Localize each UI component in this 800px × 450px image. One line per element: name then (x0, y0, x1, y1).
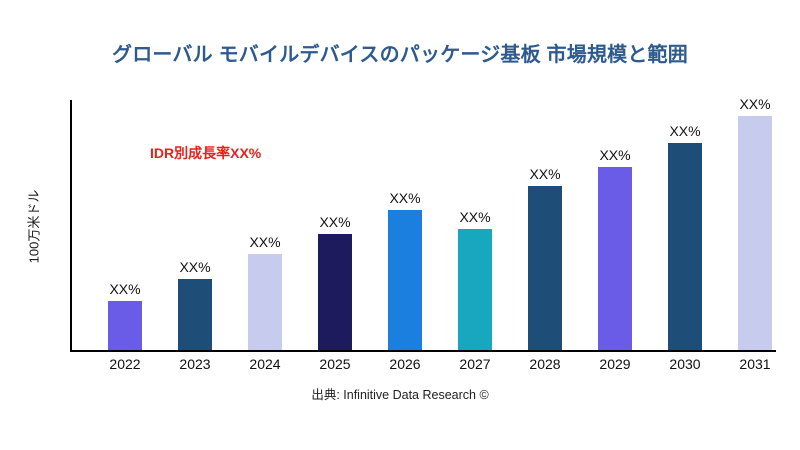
bar-slot: XX% (528, 100, 562, 350)
x-axis-tick-labels: 2022202320242025202620272028202920302031 (70, 356, 780, 380)
chart-container: グローバル モバイルデバイスのパッケージ基板 市場規模と範囲 100万米ドル I… (0, 0, 800, 450)
bar-2024[interactable] (248, 254, 282, 350)
plot-area: IDR別成長率XX% XX%XX%XX%XX%XX%XX%XX%XX%XX%XX… (70, 100, 780, 352)
bar-2025[interactable] (318, 234, 352, 350)
x-tick-2031: 2031 (724, 356, 786, 372)
bar-value-label-2022: XX% (94, 281, 156, 297)
bar-value-label-2025: XX% (304, 214, 366, 230)
bar-2028[interactable] (528, 186, 562, 350)
page-title: グローバル モバイルデバイスのパッケージ基板 市場規模と範囲 (0, 38, 800, 67)
bar-slot: XX% (668, 100, 702, 350)
x-tick-2029: 2029 (584, 356, 646, 372)
bar-slot: XX% (738, 100, 772, 350)
bar-value-label-2027: XX% (444, 209, 506, 225)
bar-2029[interactable] (598, 167, 632, 350)
bar-slot: XX% (388, 100, 422, 350)
x-tick-2023: 2023 (164, 356, 226, 372)
bar-2026[interactable] (388, 210, 422, 350)
bar-2022[interactable] (108, 301, 142, 350)
bar-2030[interactable] (668, 143, 702, 350)
bar-value-label-2031: XX% (724, 96, 786, 112)
bar-slot: XX% (178, 100, 212, 350)
bar-slot: XX% (318, 100, 352, 350)
bar-2027[interactable] (458, 229, 492, 350)
x-tick-2026: 2026 (374, 356, 436, 372)
y-axis-label: 100万米ドル (24, 189, 43, 263)
bar-slot: XX% (248, 100, 282, 350)
bar-value-label-2026: XX% (374, 190, 436, 206)
bar-slot: XX% (108, 100, 142, 350)
bar-slot: XX% (458, 100, 492, 350)
bar-value-label-2024: XX% (234, 234, 296, 250)
bar-2031[interactable] (738, 116, 772, 350)
x-axis-line (70, 350, 776, 352)
y-axis-label-wrapper: 100万米ドル (18, 100, 48, 352)
x-tick-2030: 2030 (654, 356, 716, 372)
x-tick-2022: 2022 (94, 356, 156, 372)
bar-value-label-2029: XX% (584, 147, 646, 163)
bar-series: XX%XX%XX%XX%XX%XX%XX%XX%XX%XX% (70, 100, 780, 350)
source-caption: 出典: Infinitive Data Research © (0, 384, 800, 403)
bar-value-label-2028: XX% (514, 166, 576, 182)
x-tick-2027: 2027 (444, 356, 506, 372)
bar-2023[interactable] (178, 279, 212, 350)
bar-value-label-2030: XX% (654, 123, 716, 139)
x-tick-2024: 2024 (234, 356, 296, 372)
x-tick-2028: 2028 (514, 356, 576, 372)
bar-slot: XX% (598, 100, 632, 350)
x-tick-2025: 2025 (304, 356, 366, 372)
bar-value-label-2023: XX% (164, 259, 226, 275)
